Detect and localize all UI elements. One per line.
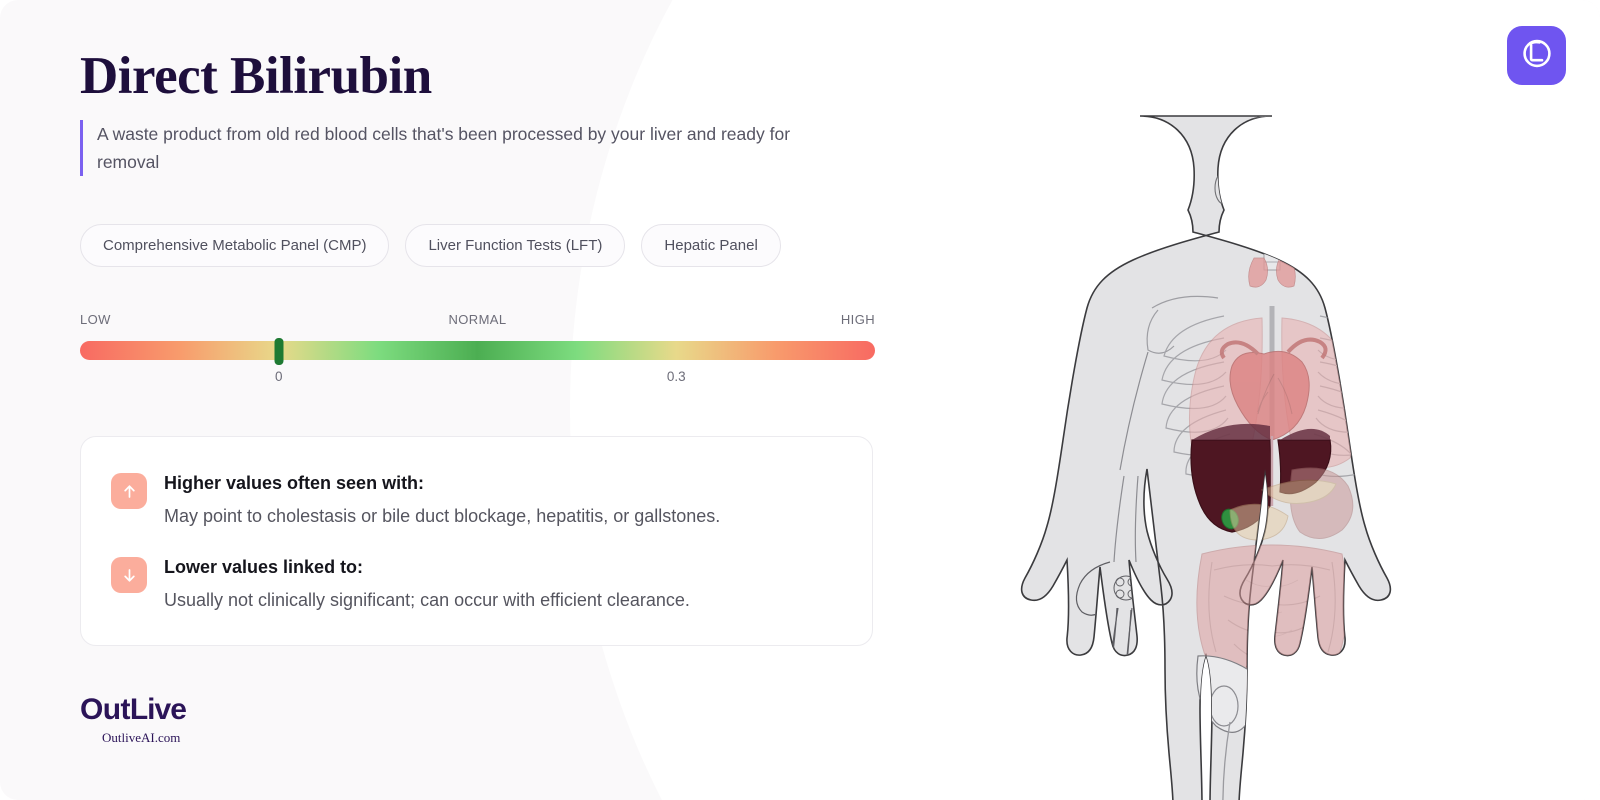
insight-row-lower: Lower values linked to: Usually not clin… [111, 555, 838, 613]
scale-value-marker[interactable] [274, 338, 283, 365]
main-content: Direct Bilirubin A waste product from ol… [80, 0, 910, 800]
arrow-up-icon [111, 473, 147, 509]
tag-hepatic-panel[interactable]: Hepatic Panel [641, 224, 780, 267]
scale-range-min: 0 [275, 369, 283, 384]
page-title: Direct Bilirubin [80, 46, 432, 106]
reference-range-scale: LOW NORMAL HIGH 0 0.3 [80, 312, 875, 389]
outlive-logo-icon [1518, 34, 1556, 77]
insight-text-higher: Higher values often seen with: May point… [164, 471, 838, 529]
scale-label-high: HIGH [841, 312, 875, 327]
tag-cmp[interactable]: Comprehensive Metabolic Panel (CMP) [80, 224, 389, 267]
scale-zone-labels: LOW NORMAL HIGH [80, 312, 875, 332]
scale-range-max: 0.3 [667, 369, 686, 384]
insight-heading-higher: Higher values often seen with: [164, 471, 838, 495]
footer-url: OutliveAI.com [102, 730, 186, 746]
subtitle-block: A waste product from old red blood cells… [80, 120, 820, 176]
scale-range-values: 0 0.3 [80, 369, 875, 389]
scale-label-low: LOW [80, 312, 111, 327]
panel-tag-list: Comprehensive Metabolic Panel (CMP) Live… [80, 224, 781, 267]
page-subtitle: A waste product from old red blood cells… [97, 120, 820, 176]
wordmark-out: Out [80, 693, 130, 726]
wordmark-live: Live [130, 693, 186, 726]
scale-label-normal: NORMAL [448, 312, 506, 327]
insight-text-lower: Lower values linked to: Usually not clin… [164, 555, 838, 613]
insight-body-higher: May point to cholestasis or bile duct bl… [164, 503, 838, 529]
footer-brand: OutLive OutliveAI.com [80, 694, 186, 746]
arrow-down-icon [111, 557, 147, 593]
insight-body-lower: Usually not clinically significant; can … [164, 587, 838, 613]
page-root: Direct Bilirubin A waste product from ol… [0, 0, 1600, 800]
scale-gradient-bar[interactable] [80, 341, 875, 360]
insights-card: Higher values often seen with: May point… [80, 436, 873, 646]
tag-lft[interactable]: Liver Function Tests (LFT) [405, 224, 625, 267]
human-body-anatomy-diagram [962, 110, 1582, 800]
brand-badge[interactable] [1507, 26, 1566, 85]
insight-heading-lower: Lower values linked to: [164, 555, 838, 579]
outlive-wordmark: OutLive [80, 694, 186, 726]
insight-row-higher: Higher values often seen with: May point… [111, 471, 838, 529]
